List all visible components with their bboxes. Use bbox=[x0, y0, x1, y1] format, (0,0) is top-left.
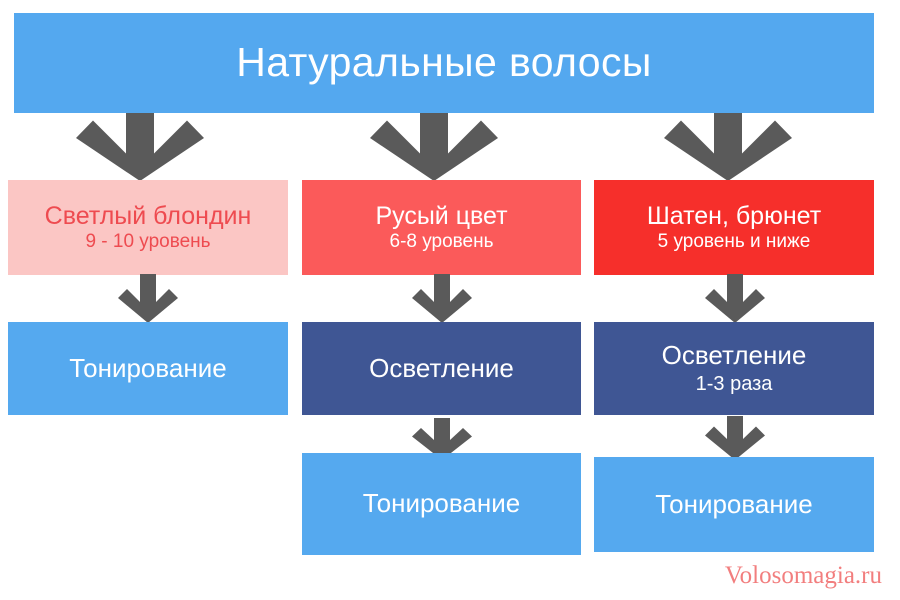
diagram-title-label: Натуральные волосы bbox=[236, 41, 652, 84]
category-name-light-blonde: Светлый блондин bbox=[45, 203, 252, 230]
arrow-down-icon-col1-step1 bbox=[118, 274, 178, 323]
category-box-light-blonde: Светлый блондин 9 - 10 уровень bbox=[8, 180, 288, 275]
arrow-down-icon-col2-step1 bbox=[412, 274, 472, 323]
step-label-col3-bleaching: Осветление bbox=[662, 342, 807, 370]
category-level-light-brown: 6-8 уровень bbox=[390, 232, 494, 252]
step-label-col2-toning: Тонирование bbox=[363, 490, 520, 518]
step-box-col1-toning: Тонирование bbox=[8, 322, 288, 415]
category-name-light-brown: Русый цвет bbox=[375, 203, 507, 230]
step-box-col3-toning: Тонирование bbox=[594, 457, 874, 552]
step-label-col3-toning: Тонирование bbox=[655, 491, 812, 519]
flowchart-canvas: Натуральные волосы Светлый блондин 9 - 1… bbox=[0, 0, 900, 600]
category-name-dark-hair: Шатен, брюнет bbox=[647, 203, 821, 230]
step-box-col2-toning: Тонирование bbox=[302, 453, 581, 555]
diagram-title-box: Натуральные волосы bbox=[14, 13, 874, 113]
category-level-dark-hair: 5 уровень и ниже bbox=[658, 232, 811, 252]
step-box-col2-bleaching: Осветление bbox=[302, 322, 581, 415]
arrow-down-icon-col3-step1 bbox=[705, 274, 765, 323]
category-box-dark-hair: Шатен, брюнет 5 уровень и ниже bbox=[594, 180, 874, 275]
category-level-light-blonde: 9 - 10 уровень bbox=[85, 232, 210, 252]
step-label-col1-toning: Тонирование bbox=[69, 355, 226, 383]
arrow-down-icon-title-to-col2 bbox=[370, 113, 498, 181]
category-box-light-brown: Русый цвет 6-8 уровень bbox=[302, 180, 581, 275]
site-watermark: Volosomagia.ru bbox=[725, 562, 882, 590]
step-label-col2-bleaching: Осветление bbox=[369, 355, 514, 383]
step-detail-col3-bleaching: 1-3 раза bbox=[696, 374, 773, 395]
arrow-down-icon-title-to-col1 bbox=[76, 113, 204, 181]
step-box-col3-bleaching: Осветление 1-3 раза bbox=[594, 322, 874, 415]
arrow-down-icon-title-to-col3 bbox=[664, 113, 792, 181]
arrow-down-icon-col3-step2 bbox=[705, 416, 765, 460]
